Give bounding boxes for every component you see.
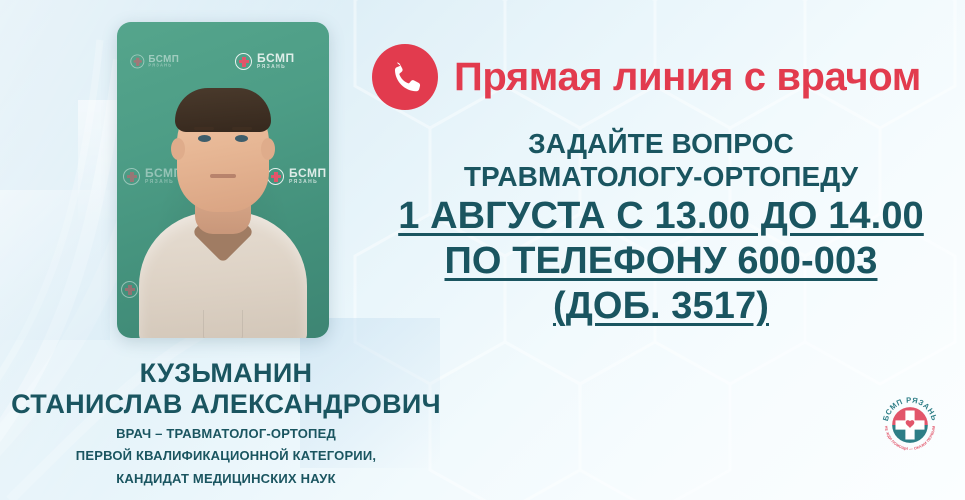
backdrop-watermark: БСМП РЯЗАНЬ [267, 167, 327, 185]
medical-cross-icon [123, 168, 140, 185]
backdrop-watermark: БСМП РЯЗАНЬ [235, 52, 295, 70]
announcement-line-3: 1 АВГУСТА С 13.00 ДО 14.00 [398, 195, 924, 237]
watermark-brand: БСМП [148, 54, 179, 64]
watermark-sub: РЯЗАНЬ [257, 65, 295, 70]
doctor-hair [175, 88, 271, 132]
doctor-last-name: КУЗЬМАНИН [0, 358, 452, 389]
doctor-photo: БСМП РЯЗАНЬ БСМП РЯЗАНЬ БСМП РЯЗАНЬ БСМП… [117, 22, 329, 338]
watermark-sub: РЯЗАНЬ [289, 180, 327, 185]
doctor-first-patronymic: СТАНИСЛАВ АЛЕКСАНДРОВИЧ [0, 389, 452, 420]
announcement-line-2: ТРАВМАТОЛОГУ-ОРТОПЕДУ [372, 160, 950, 193]
announcement-block: ЗАДАЙТЕ ВОПРОС ТРАВМАТОЛОГУ-ОРТОПЕДУ 1 А… [372, 127, 950, 329]
doctor-eye [235, 135, 248, 142]
doctor-ear [171, 138, 185, 160]
doctor-role-line-2: ПЕРВОЙ КВАЛИФИКАЦИОННОЙ КАТЕГОРИИ, [0, 447, 452, 465]
watermark-brand: БСМП [289, 167, 327, 179]
doctor-eyebrow [232, 127, 252, 130]
backdrop-watermark: БСМП РЯЗАНЬ [130, 54, 179, 69]
doctor-name-card: КУЗЬМАНИН СТАНИСЛАВ АЛЕКСАНДРОВИЧ ВРАЧ –… [0, 358, 452, 488]
page-title: Прямая линия с врачом [454, 55, 921, 100]
medical-cross-icon [121, 281, 138, 298]
announcement-line-4: ПО ТЕЛЕФОНУ 600-003 [445, 240, 878, 282]
announcement-line-1: ЗАДАЙТЕ ВОПРОС [372, 127, 950, 160]
backdrop-watermark: БСМП РЯЗАНЬ [123, 167, 183, 185]
watermark-brand: БСМП [257, 52, 295, 64]
announcement-line-5: (ДОБ. 3517) [553, 285, 769, 327]
doctor-ear [261, 138, 275, 160]
doctor-role-line-3: КАНДИДАТ МЕДИЦИНСКИХ НАУК [0, 470, 452, 488]
doctor-role-line-1: ВРАЧ – ТРАВМАТОЛОГ-ОРТОПЕД [0, 425, 452, 443]
watermark-sub: РЯЗАНЬ [148, 64, 179, 68]
medical-cross-icon [130, 54, 144, 68]
phone-icon [372, 44, 438, 110]
background-square-decoration [0, 190, 110, 340]
doctor-mouth [210, 174, 236, 178]
poster-canvas: БСМП РЯЗАНЬ БСМП РЯЗАНЬ БСМП РЯЗАНЬ БСМП… [0, 0, 965, 500]
header: Прямая линия с врачом [372, 44, 921, 110]
doctor-eye [198, 135, 211, 142]
doctor-eyebrow [194, 127, 214, 130]
medical-cross-icon [267, 168, 284, 185]
medical-cross-icon [235, 53, 252, 70]
watermark-sub: РЯЗАНЬ [145, 180, 183, 185]
scrub-pocket [203, 310, 243, 338]
bsmp-ryazan-logo: БСМП РЯЗАНЬ НЕ ЖДИ ПОМОЩИ — ОКАЖИ ПЕРВЫМ [877, 392, 943, 458]
